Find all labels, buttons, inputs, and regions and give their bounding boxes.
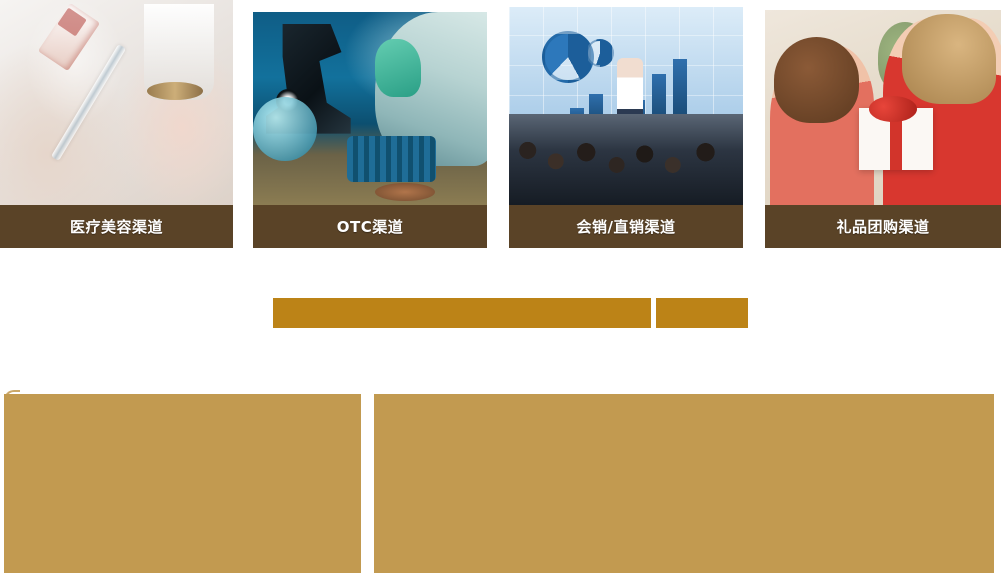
channel-card-label-bar: 礼品团购渠道 <box>765 205 1001 248</box>
section-heading-primary-bar <box>273 298 651 328</box>
girl-hair-shape <box>774 37 859 123</box>
content-block-corner-accent <box>4 390 20 406</box>
gift-bow-shape <box>869 96 917 122</box>
channel-card-label: 会销/直销渠道 <box>577 216 676 237</box>
content-block-right <box>374 394 994 573</box>
otc-lab-photo <box>253 12 487 205</box>
sales-channels-row: 医疗美容渠道 OTC渠道 <box>0 0 1001 250</box>
mother-hair-shape <box>902 14 996 104</box>
audience-crowd-shape <box>509 114 743 205</box>
gift-group-buy-photo-art <box>765 10 1001 205</box>
content-block-left <box>4 394 361 573</box>
section-heading-secondary-bar <box>656 298 748 328</box>
clipped-text-fragment-left <box>0 498 6 573</box>
gloved-hand-shape <box>375 39 421 97</box>
round-flask-shape <box>253 97 317 161</box>
gift-group-buy-photo <box>765 10 1001 205</box>
otc-lab-photo-art <box>253 12 487 205</box>
channel-card-label: OTC渠道 <box>337 216 404 237</box>
bottle-ring-shape <box>147 82 203 100</box>
clipped-text-fragment-right <box>988 522 1001 573</box>
medical-aesthetics-photo <box>0 0 233 205</box>
channel-card-label-bar: OTC渠道 <box>253 205 487 248</box>
channel-card-label-bar: 会销/直销渠道 <box>509 205 743 248</box>
channel-card-conference-sales[interactable]: 会销/直销渠道 <box>509 7 743 248</box>
channel-card-otc[interactable]: OTC渠道 <box>253 12 487 248</box>
test-tube-rack-shape <box>347 136 436 182</box>
small-pie-chart-graphic <box>586 39 614 67</box>
channel-card-label: 医疗美容渠道 <box>70 216 163 237</box>
petri-dish-shape <box>375 183 435 201</box>
channel-card-medical-aesthetics[interactable]: 医疗美容渠道 <box>0 0 233 248</box>
page-root: 医疗美容渠道 OTC渠道 <box>0 0 1001 573</box>
conference-sales-photo <box>509 7 743 205</box>
channel-card-gift-group-buy[interactable]: 礼品团购渠道 <box>765 10 1001 248</box>
medical-aesthetics-photo-art <box>0 0 233 205</box>
channel-card-label: 礼品团购渠道 <box>836 216 929 237</box>
channel-card-label-bar: 医疗美容渠道 <box>0 205 233 248</box>
conference-sales-photo-art <box>509 7 743 205</box>
